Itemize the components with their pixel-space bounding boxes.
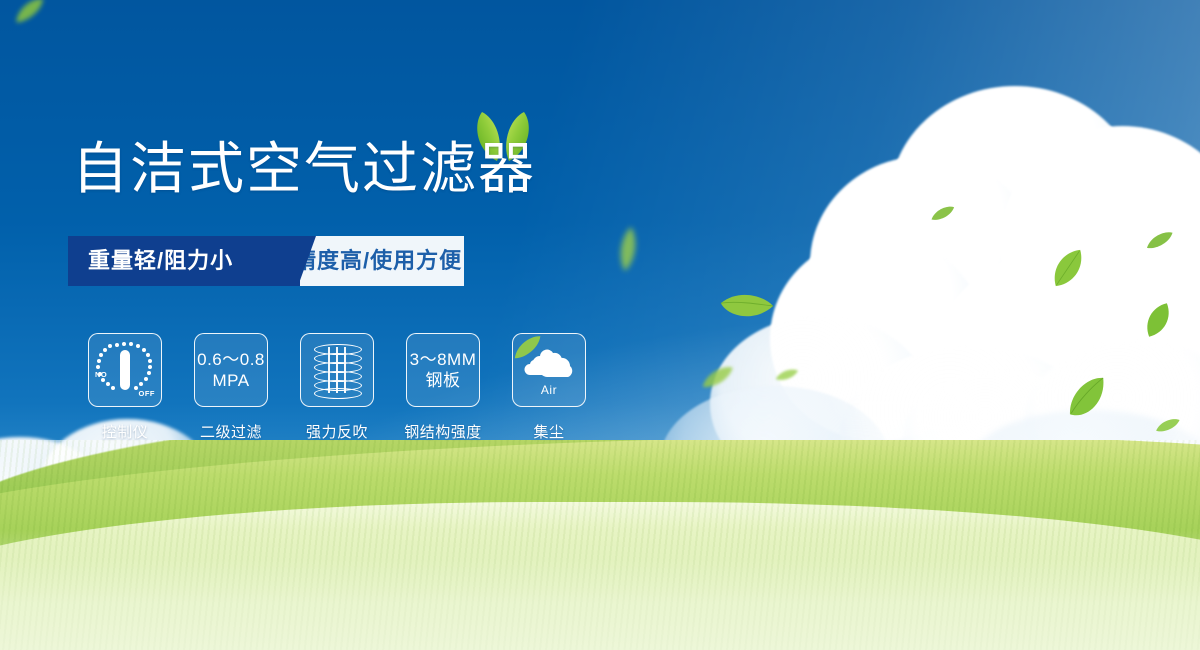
pressure-text-icon: 0.6～0.8 MPA [197,349,265,391]
air-cloud-icon: Air [522,344,576,396]
feature-label: 二级过滤 [200,421,262,442]
coil-stack-icon [314,344,360,396]
gauge-off-label: OFF [139,389,156,398]
dial-gauge-icon: NO OFF [89,334,161,406]
feature-label: 控制仪 [102,421,149,442]
feature-icon-box: NO OFF [88,333,162,407]
promo-banner: 自洁式空气过滤器 精度高/使用方便 重量轻/阻力小 [0,0,1200,650]
steel-line-1: 3～8MM [410,349,477,370]
pressure-line-1: 0.6～0.8 [197,349,265,370]
pressure-line-2: MPA [197,370,265,391]
feature-icon-box: 0.6～0.8 MPA [194,333,268,407]
page-title: 自洁式空气过滤器 [72,141,536,197]
feature-item-two-stage-filter[interactable]: 0.6～0.8 MPA 二级过滤 [178,333,284,442]
steel-line-2: 钢板 [410,370,477,391]
feature-label: 强力反吹 [306,421,368,442]
gauge-on-label: NO [95,370,107,379]
feature-icon-box: 3～8MM 钢板 [406,333,480,407]
feature-icon-box: Air [512,333,586,407]
feature-item-controller[interactable]: NO OFF 控制仪 [72,333,178,442]
feature-item-steel-strength[interactable]: 3～8MM 钢板 钢结构强度 [390,333,496,442]
feature-list: NO OFF 控制仪 0.6～0.8 MPA 二级过滤 [72,333,602,442]
subtitle-left-segment: 重量轻/阻力小 [68,236,300,286]
steel-plate-text-icon: 3～8MM 钢板 [410,349,477,391]
feature-label: 钢结构强度 [404,421,482,442]
air-text-label: Air [522,383,576,397]
feature-icon-box [300,333,374,407]
subtitle-left-text: 重量轻/阻力小 [88,236,233,286]
subtitle-ribbon: 精度高/使用方便 重量轻/阻力小 [68,236,464,286]
feature-item-dust-collection[interactable]: Air 集尘 [496,333,602,442]
subtitle-right-text: 精度高/使用方便 [294,236,462,286]
feature-item-strong-backblow[interactable]: 强力反吹 [284,333,390,442]
feature-label: 集尘 [533,421,564,442]
